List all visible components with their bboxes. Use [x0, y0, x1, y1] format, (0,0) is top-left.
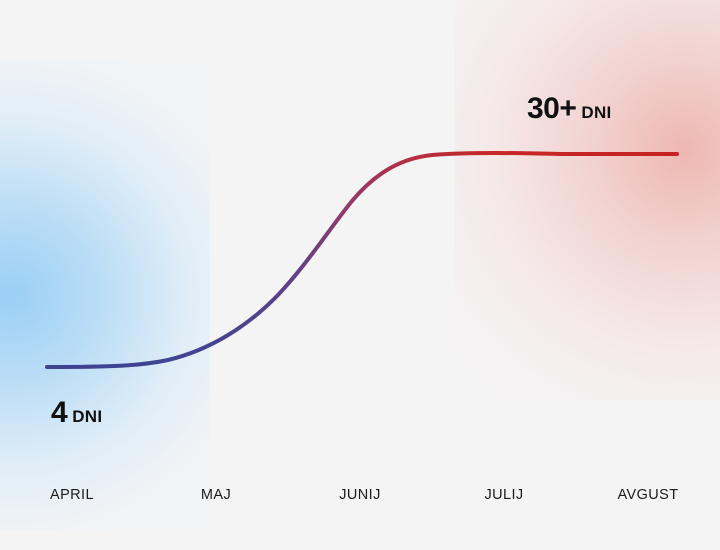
growth-curve-path	[47, 153, 677, 367]
month-axis: APRIL MAJ JUNIJ JULIJ AVGUST	[0, 487, 720, 507]
axis-label-april: APRIL	[0, 487, 144, 507]
growth-curve-svg	[0, 0, 720, 550]
callout-start-number: 4	[51, 396, 67, 429]
callout-end-unit: DNI	[581, 103, 611, 122]
axis-label-junij: JUNIJ	[288, 487, 432, 507]
axis-label-julij: JULIJ	[432, 487, 576, 507]
callout-start-value: 4DNI	[51, 398, 102, 428]
callout-end-value: 30+DNI	[527, 94, 612, 124]
chart-canvas: 4DNI 30+DNI APRIL MAJ JUNIJ JULIJ AVGUST	[0, 0, 720, 550]
callout-start-unit: DNI	[72, 407, 102, 426]
callout-end-number: 30+	[527, 92, 576, 125]
axis-label-maj: MAJ	[144, 487, 288, 507]
axis-label-avgust: AVGUST	[576, 487, 720, 507]
